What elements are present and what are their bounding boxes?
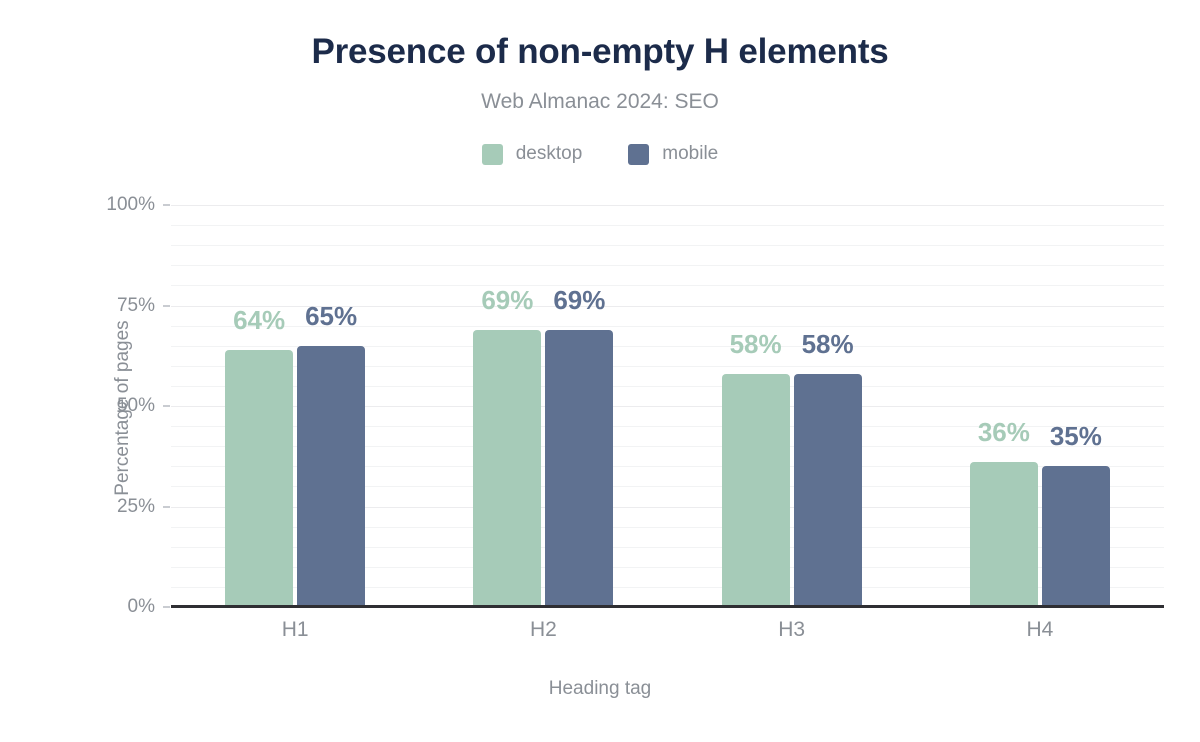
legend-label-mobile: mobile xyxy=(662,143,718,165)
bar-value-label-H2-desktop: 69% xyxy=(469,285,545,316)
x-axis-label: Heading tag xyxy=(0,678,1200,700)
x-tick-label-H3: H3 xyxy=(778,618,805,642)
x-tick-label-H1: H1 xyxy=(282,618,309,642)
bar-group-H1: 64%65% xyxy=(225,205,365,607)
legend-swatch-mobile xyxy=(628,144,649,165)
legend-swatch-desktop xyxy=(482,144,503,165)
bar-H2-mobile[interactable] xyxy=(545,330,613,607)
bar-value-label-H1-desktop: 64% xyxy=(221,305,297,336)
y-tick-mark xyxy=(163,506,170,508)
y-tick-mark xyxy=(163,606,170,608)
y-tick-mark xyxy=(163,405,170,407)
bar-H1-desktop[interactable] xyxy=(225,350,293,607)
legend-label-desktop: desktop xyxy=(516,143,583,165)
bar-value-label-H1-mobile: 65% xyxy=(293,301,369,332)
y-tick-label: 100% xyxy=(85,194,155,216)
chart-figure: Presence of non-empty H elements Web Alm… xyxy=(0,0,1200,742)
x-axis-line xyxy=(171,605,1164,608)
y-axis-label: Percentage of pages xyxy=(112,278,134,538)
bar-value-label-H2-mobile: 69% xyxy=(541,285,617,316)
bar-value-label-H3-mobile: 58% xyxy=(790,329,866,360)
bar-H4-mobile[interactable] xyxy=(1042,466,1110,607)
bar-value-label-H4-desktop: 36% xyxy=(966,417,1042,448)
bar-H2-desktop[interactable] xyxy=(473,330,541,607)
bar-H3-mobile[interactable] xyxy=(794,374,862,607)
bar-series-container: 64%65%69%69%58%58%36%35% xyxy=(171,205,1164,607)
bar-H1-mobile[interactable] xyxy=(297,346,365,607)
bar-H4-desktop[interactable] xyxy=(970,462,1038,607)
y-tick-mark xyxy=(163,305,170,307)
chart-subtitle: Web Almanac 2024: SEO xyxy=(0,90,1200,114)
x-tick-label-H4: H4 xyxy=(1026,618,1053,642)
bar-group-H2: 69%69% xyxy=(473,205,613,607)
x-tick-label-H2: H2 xyxy=(530,618,557,642)
bar-group-H3: 58%58% xyxy=(722,205,862,607)
bar-H3-desktop[interactable] xyxy=(722,374,790,607)
bar-value-label-H3-desktop: 58% xyxy=(718,329,794,360)
legend-item-desktop[interactable]: desktop xyxy=(482,143,583,165)
y-tick-mark xyxy=(163,204,170,206)
bar-group-H4: 36%35% xyxy=(970,205,1110,607)
y-tick-label: 0% xyxy=(85,596,155,618)
chart-title: Presence of non-empty H elements xyxy=(0,32,1200,72)
bar-value-label-H4-mobile: 35% xyxy=(1038,421,1114,452)
chart-legend: desktopmobile xyxy=(0,143,1200,165)
legend-item-mobile[interactable]: mobile xyxy=(628,143,718,165)
